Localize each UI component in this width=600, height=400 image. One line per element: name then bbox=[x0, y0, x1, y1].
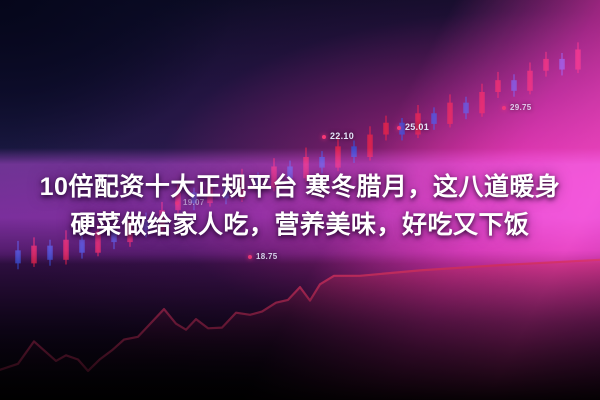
chart-value-label: 29.75 bbox=[502, 103, 532, 112]
label-value-text: 18.75 bbox=[256, 252, 278, 261]
chart-value-label: 25.01 bbox=[397, 122, 429, 132]
label-marker-dot bbox=[322, 135, 326, 139]
chart-value-label: 22.10 bbox=[322, 131, 354, 141]
label-value-text: 29.75 bbox=[510, 103, 532, 112]
banner-image: 19.0722.1025.0129.7518.75 10倍配资十大正规平台 寒冬… bbox=[0, 0, 600, 400]
headline-line-2: 硬菜做给家人吃，营养美味，好吃又下饭 bbox=[0, 206, 600, 244]
chart-value-label: 18.75 bbox=[248, 252, 278, 261]
label-marker-dot bbox=[502, 106, 506, 110]
label-value-text: 25.01 bbox=[405, 122, 429, 132]
label-marker-dot bbox=[397, 126, 401, 130]
banner-headline: 10倍配资十大正规平台 寒冬腊月，这八道暖身 硬菜做给家人吃，营养美味，好吃又下… bbox=[0, 168, 600, 244]
label-marker-dot bbox=[248, 255, 252, 259]
background-bottom-fade bbox=[0, 250, 600, 400]
label-value-text: 22.10 bbox=[330, 131, 354, 141]
headline-line-1: 10倍配资十大正规平台 寒冬腊月，这八道暖身 bbox=[0, 168, 600, 206]
